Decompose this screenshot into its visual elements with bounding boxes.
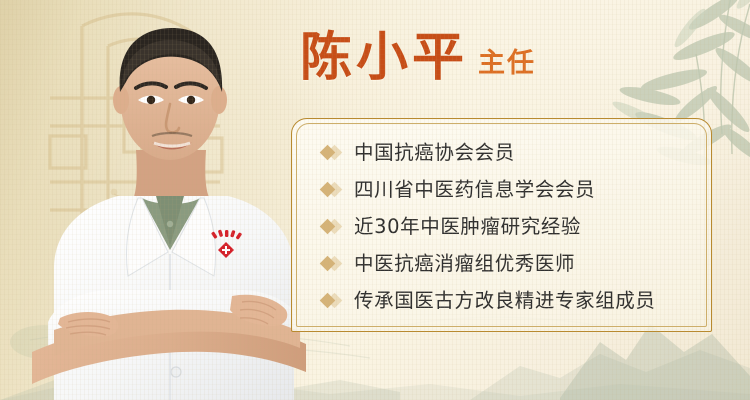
diamond-bullet-icon <box>321 257 343 271</box>
diamond-bullet-icon <box>321 146 343 160</box>
credentials-frame: 中国抗癌协会会员 四川省中医药信息学会会员 近30年中医肿瘤研究经验 中医抗癌消… <box>291 118 712 332</box>
diamond-bullet-icon <box>321 183 343 197</box>
doctor-profile-banner: 陈小平 主任 中国抗癌协会会员 四川省中医药信息学会会员 近30年中医肿瘤研究经… <box>0 0 750 400</box>
headline: 陈小平 主任 <box>300 32 700 98</box>
credential-text: 传承国医古方改良精进专家组成员 <box>354 291 656 311</box>
credential-text: 中医抗癌消瘤组优秀医师 <box>354 254 575 274</box>
list-item: 四川省中医药信息学会会员 <box>321 171 698 208</box>
credentials-list: 中国抗癌协会会员 四川省中医药信息学会会员 近30年中医肿瘤研究经验 中医抗癌消… <box>321 134 698 319</box>
diamond-bullet-icon <box>321 220 343 234</box>
list-item: 中医抗癌消瘤组优秀医师 <box>321 245 698 282</box>
list-item: 传承国医古方改良精进专家组成员 <box>321 282 698 319</box>
doctor-title: 主任 <box>478 50 536 77</box>
diamond-bullet-icon <box>321 294 343 308</box>
doctor-portrait <box>18 0 338 400</box>
list-item: 近30年中医肿瘤研究经验 <box>321 208 698 245</box>
doctor-name: 陈小平 <box>300 32 468 84</box>
credential-text: 四川省中医药信息学会会员 <box>354 180 595 200</box>
credential-text: 中国抗癌协会会员 <box>354 143 515 163</box>
credential-text: 近30年中医肿瘤研究经验 <box>354 217 581 237</box>
list-item: 中国抗癌协会会员 <box>321 134 698 171</box>
